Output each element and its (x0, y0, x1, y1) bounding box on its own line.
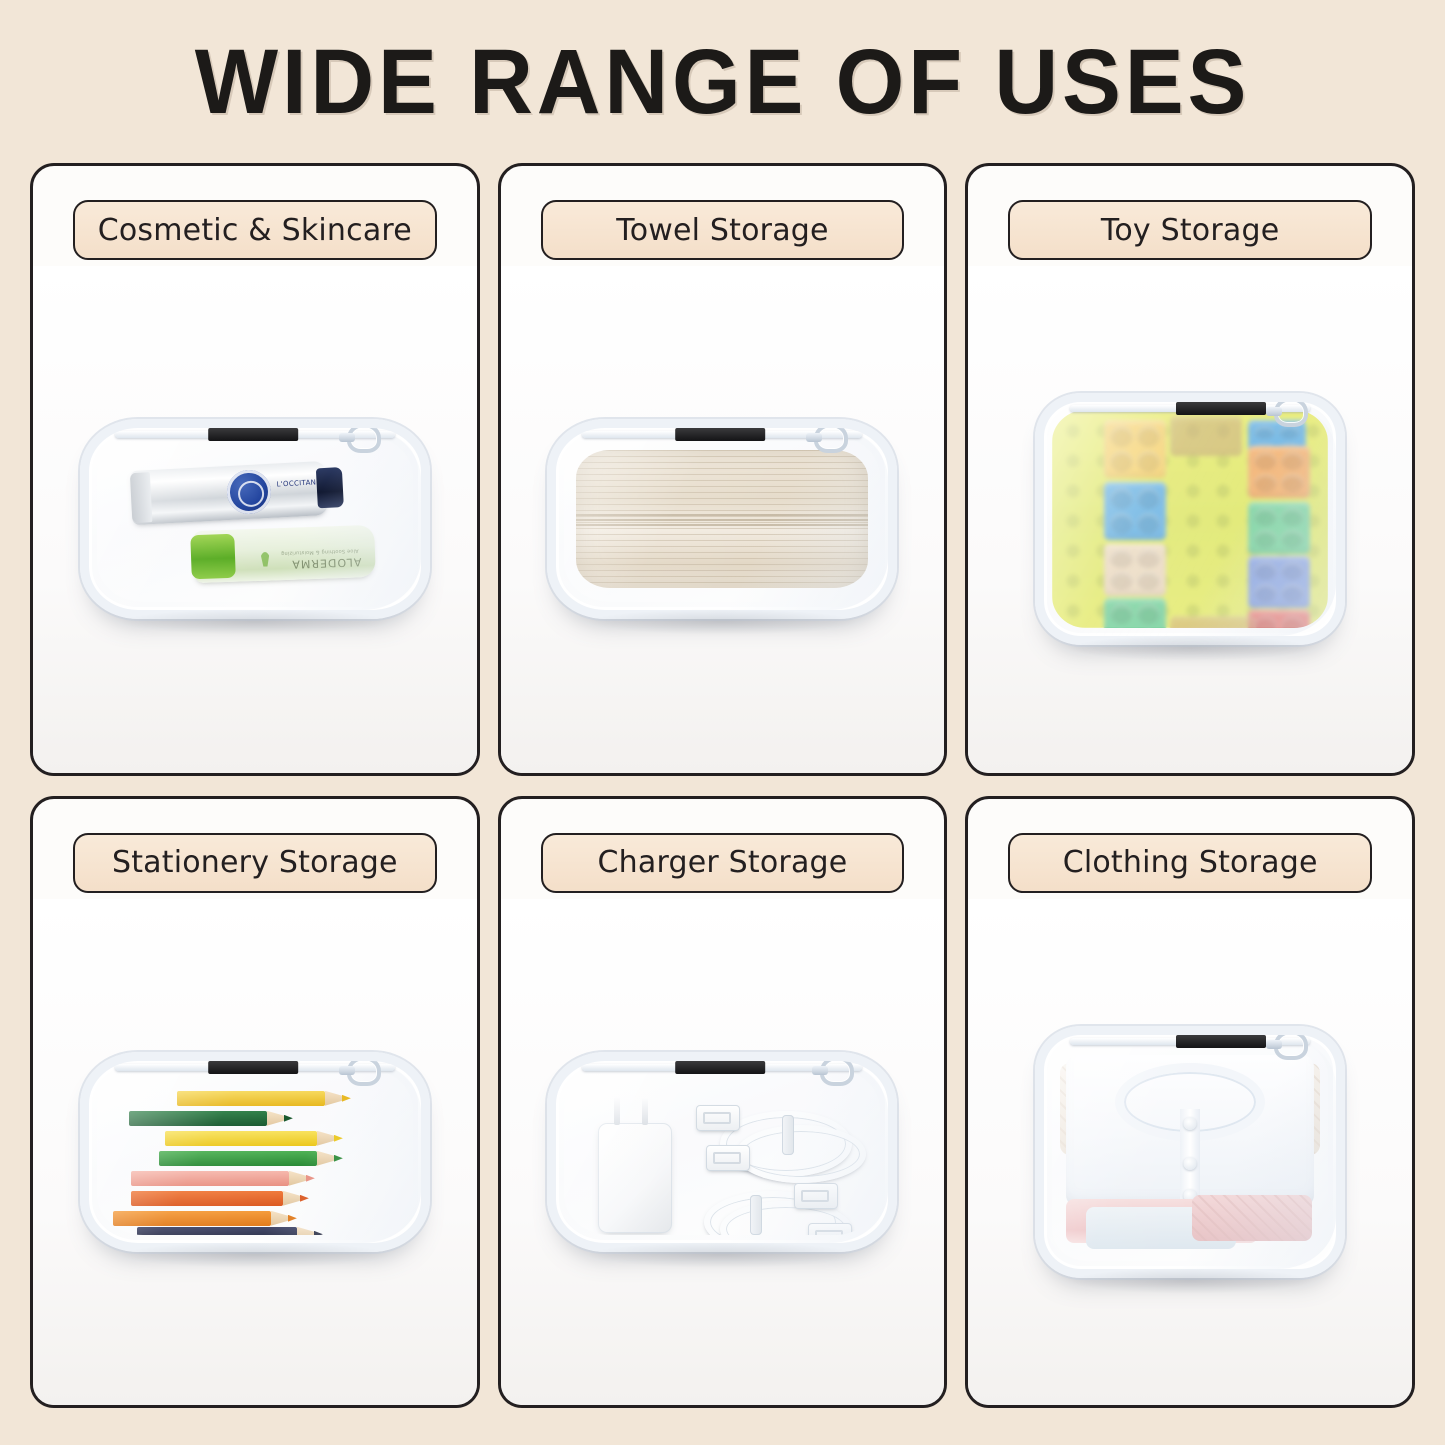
zipper-pull-icon (1274, 397, 1308, 427)
product-shadow (118, 1242, 391, 1268)
pencil (159, 1151, 317, 1166)
label-text: Clothing Storage (1063, 845, 1318, 880)
charger-prong (614, 1097, 620, 1125)
label-pill-cosmetic-skincare: Cosmetic & Skincare (73, 200, 437, 260)
wall-charger (598, 1123, 672, 1233)
usb-connector (696, 1105, 740, 1131)
shirt-button (1184, 1117, 1197, 1130)
zipper-pull-icon (1274, 1030, 1308, 1060)
label-pill-toy-storage: Toy Storage (1008, 200, 1372, 260)
charger-prong (642, 1097, 648, 1125)
product-photo-clothing-storage (968, 899, 1412, 1406)
zipper-pull-icon (347, 423, 381, 453)
infographic-page: WIDE RANGE OF USES Cosmetic & Skincare L… (0, 0, 1445, 1445)
product-shadow (118, 609, 391, 635)
use-case-card-stationery-storage[interactable]: Stationery Storage (30, 796, 480, 1409)
pouch-clear-wide: L'OCCITANE Aloe Soothing & Moisturizing … (80, 419, 430, 619)
product-shadow (586, 609, 859, 635)
tube-cap (316, 467, 344, 508)
page-title: WIDE RANGE OF USES (29, 26, 1416, 138)
folded-shirt (1066, 1055, 1314, 1207)
pouch-interior (1052, 1043, 1328, 1261)
pencil (177, 1091, 325, 1106)
pencil (129, 1111, 267, 1126)
product-photo-charger-storage (501, 899, 945, 1406)
product-photo-stationery-storage (33, 899, 477, 1406)
label-pill-stationery-storage: Stationery Storage (73, 833, 437, 893)
brand-tag (1176, 1035, 1266, 1048)
label-text: Charger Storage (598, 845, 848, 880)
shirt-button (1184, 1157, 1197, 1170)
label-pill-charger-storage: Charger Storage (541, 833, 905, 893)
product-shadow (1069, 635, 1311, 661)
pencil (113, 1211, 271, 1226)
brand-tag (676, 428, 766, 441)
product-photo-cosmetic-skincare: L'OCCITANE Aloe Soothing & Moisturizing … (33, 266, 477, 773)
pouch-clear-wide (547, 1052, 897, 1252)
skincare-tube: Aloe Soothing & Moisturizing ALODERMA (192, 525, 376, 583)
pencil (131, 1191, 283, 1206)
aloe-leaf-icon (254, 543, 275, 568)
tube-brand-text: L'OCCITANE (276, 478, 321, 488)
use-case-grid: Cosmetic & Skincare L'OCCITANE (30, 163, 1415, 1408)
brand-tag (1176, 402, 1266, 415)
cable-tie (750, 1195, 762, 1235)
product-photo-towel-storage (501, 266, 945, 773)
pouch-clear-tall (1035, 393, 1345, 645)
pouch-clear-wide (80, 1052, 430, 1252)
label-text: Towel Storage (616, 213, 828, 248)
usb-connector (808, 1223, 852, 1235)
folded-towel (576, 450, 868, 588)
zipper-pull-icon (820, 1056, 854, 1086)
use-case-card-toy-storage[interactable]: Toy Storage (965, 163, 1415, 776)
cable-tie (782, 1115, 794, 1155)
pouch-clear-wide (547, 419, 897, 619)
usb-connector (794, 1183, 838, 1209)
label-text: Stationery Storage (112, 845, 398, 880)
label-pill-towel-storage: Towel Storage (541, 200, 905, 260)
pouch-interior (97, 1069, 413, 1235)
cable-loop (736, 1125, 866, 1183)
pouch-interior (564, 436, 880, 602)
pencil (131, 1171, 289, 1186)
usb-connector (706, 1145, 750, 1171)
tube-medallion-icon (226, 469, 272, 515)
use-case-card-cosmetic-skincare[interactable]: Cosmetic & Skincare L'OCCITANE (30, 163, 480, 776)
pencil (165, 1131, 317, 1146)
brand-tag (676, 1061, 766, 1074)
tube-crimp (130, 472, 153, 523)
skincare-tube-brand-text: ALODERMA (291, 556, 361, 571)
brand-tag (208, 1061, 298, 1074)
product-photo-toy-storage (968, 266, 1412, 773)
pouch-interior (564, 1069, 880, 1235)
use-case-card-clothing-storage[interactable]: Clothing Storage (965, 796, 1415, 1409)
pouch-interior: L'OCCITANE Aloe Soothing & Moisturizing … (97, 436, 413, 602)
hand-cream-tube: L'OCCITANE (130, 461, 329, 525)
zipper-pull-icon (347, 1056, 381, 1086)
frosted-overlay (1052, 410, 1328, 628)
zipper-pull-icon (814, 423, 848, 453)
brand-tag (208, 428, 298, 441)
use-case-card-charger-storage[interactable]: Charger Storage (498, 796, 948, 1409)
product-shadow (1069, 1268, 1311, 1294)
use-case-card-towel-storage[interactable]: Towel Storage (498, 163, 948, 776)
pouch-interior (1052, 410, 1328, 628)
label-pill-clothing-storage: Clothing Storage (1008, 833, 1372, 893)
skincare-tube-cap (190, 534, 236, 580)
building-bricks (1052, 410, 1328, 628)
label-text: Toy Storage (1101, 213, 1279, 248)
product-shadow (586, 1242, 859, 1268)
label-text: Cosmetic & Skincare (98, 213, 412, 248)
pouch-clear-tall (1035, 1026, 1345, 1278)
folded-garment-pink-quilted (1192, 1195, 1312, 1241)
pencil (137, 1227, 297, 1235)
